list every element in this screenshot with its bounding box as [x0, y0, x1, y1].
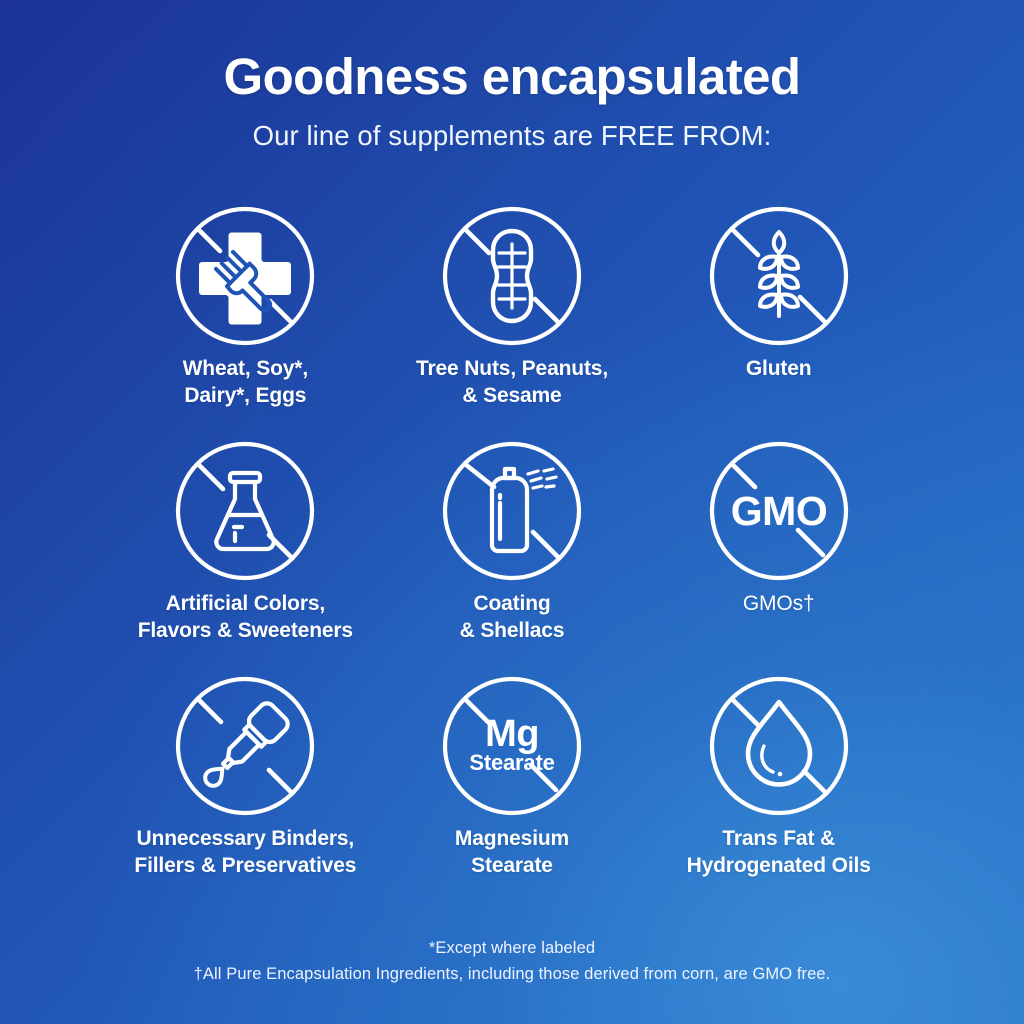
header: Goodness encapsulated Our line of supple… [0, 0, 1024, 152]
grid-item-label: Coating & Shellacs [460, 591, 565, 644]
grid-item: Unnecessary Binders, Fillers & Preservat… [112, 670, 379, 905]
grid-item: GMO GMOs† [645, 435, 912, 670]
grid-item: Trans Fat & Hydrogenated Oils [645, 670, 912, 905]
grid-item-label: Trans Fat & Hydrogenated Oils [687, 826, 871, 879]
infographic-page: Goodness encapsulated Our line of supple… [0, 0, 1024, 1024]
no-spray-can-icon [436, 435, 588, 587]
page-subtitle: Our line of supplements are FREE FROM: [0, 120, 1024, 152]
gmo-badge-text: GMO [730, 488, 826, 534]
grid-item: Tree Nuts, Peanuts, & Sesame [379, 200, 646, 435]
grid-item-label: Magnesium Stearate [455, 826, 569, 879]
grid-item-label: Tree Nuts, Peanuts, & Sesame [416, 356, 608, 409]
grid-item-label: Unnecessary Binders, Fillers & Preservat… [134, 826, 356, 879]
no-gmo-icon: GMO [703, 435, 855, 587]
stearate-badge-subtext: Stearate [469, 750, 554, 775]
grid-item-label: Artificial Colors, Flavors & Sweeteners [138, 591, 353, 644]
grid-item-label: Gluten [746, 356, 812, 383]
free-from-grid: Wheat, Soy*, Dairy*, Eggs Tree Nuts, [112, 200, 912, 905]
no-oil-droplet-icon [703, 670, 855, 822]
grid-item: Coating & Shellacs [379, 435, 646, 670]
no-peanut-icon [436, 200, 588, 352]
grid-item: Wheat, Soy*, Dairy*, Eggs [112, 200, 379, 435]
no-wheat-stalk-icon [703, 200, 855, 352]
no-mg-stearate-icon: Mg Stearate [436, 670, 588, 822]
no-dropper-icon [169, 670, 321, 822]
grid-item: Gluten [645, 200, 912, 435]
footnote-asterisk: *Except where labeled [0, 936, 1024, 962]
mg-badge-text: Mg [485, 713, 539, 755]
no-fork-cross-icon [169, 200, 321, 352]
no-flask-icon [169, 435, 321, 587]
grid-item-label: GMOs† [743, 591, 815, 618]
page-title: Goodness encapsulated [0, 50, 1024, 104]
grid-item: Artificial Colors, Flavors & Sweeteners [112, 435, 379, 670]
footnotes: *Except where labeled †All Pure Encapsul… [0, 936, 1024, 988]
footnote-dagger: †All Pure Encapsulation Ingredients, inc… [0, 962, 1024, 988]
grid-item: Mg Stearate Magnesium Stearate [379, 670, 646, 905]
grid-item-label: Wheat, Soy*, Dairy*, Eggs [183, 356, 308, 409]
